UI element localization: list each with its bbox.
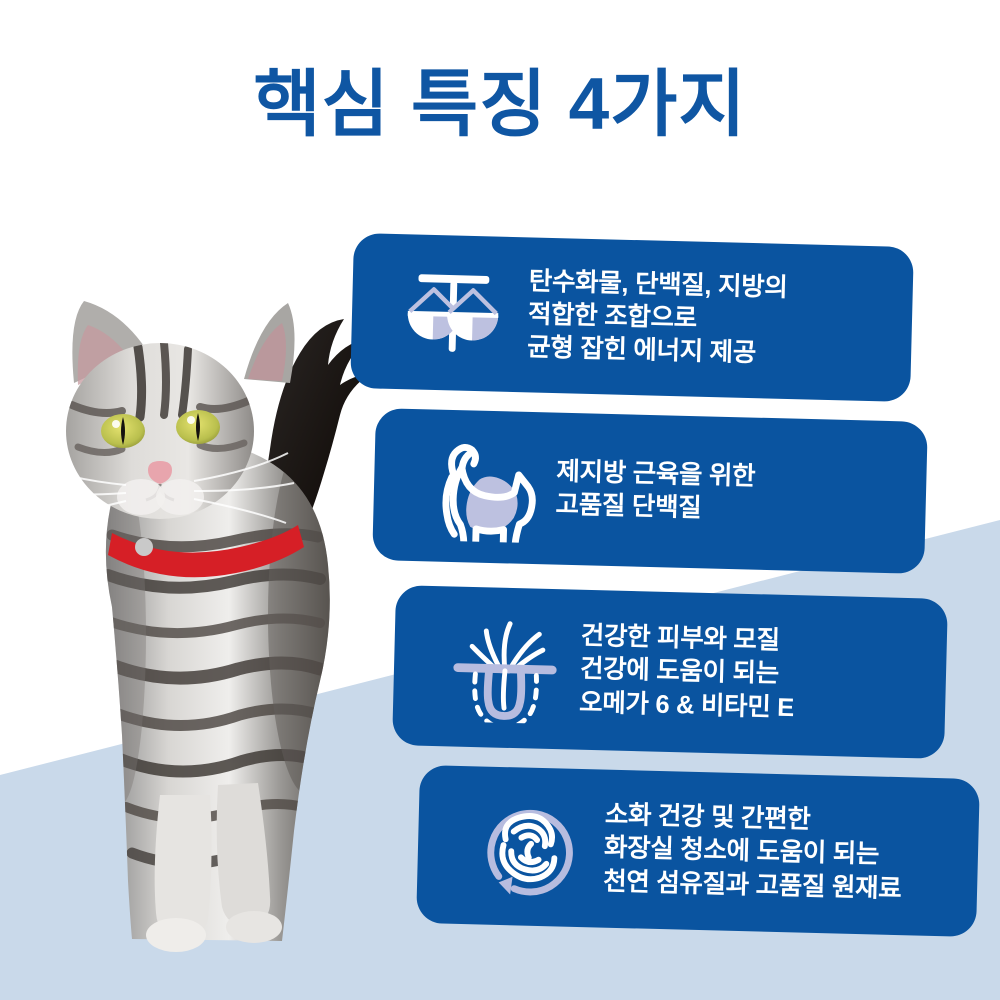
digestion-cycle-icon [469,790,590,903]
feature-1-line-3: 균형 잡힌 에너지 제공 [527,331,787,371]
cat-paw-left [146,918,206,952]
feature-card-3[interactable]: 건강한 피부와 모질 건강에 도움이 되는 오메가 6 & 비타민 E [392,585,948,759]
feature-card-4[interactable]: 소화 건강 및 간편한 화장실 청소에 도움이 되는 천연 섬유질과 고품질 원… [416,765,980,937]
balance-scale-icon [393,256,514,369]
feature-card-1-text: 탄수화물, 단백질, 지방의 적합한 조합으로 균형 잡힌 에너지 제공 [527,265,788,371]
feature-4-line-3: 천연 섬유질과 고품질 원재료 [603,865,902,906]
feature-card-1[interactable]: 탄수화물, 단백질, 지방의 적합한 조합으로 균형 잡힌 에너지 제공 [350,233,914,402]
feature-card-3-text: 건강한 피부와 모질 건강에 도움이 되는 오메가 6 & 비타민 E [579,620,796,725]
cat-front-leg-left [155,795,212,939]
page-title: 핵심 특징 4가지 [0,66,1000,145]
feature-card-2[interactable]: 제지방 근육을 위한 고품질 단백질 [372,408,928,574]
feature-3-line-3: 오메가 6 & 비타민 E [579,686,795,725]
hair-follicle-icon [445,611,566,724]
feature-3-line-2: 건강에 도움이 되는 [580,653,796,692]
feature-2-line-1: 제지방 근육을 위한 [556,455,756,493]
feature-card-2-text: 제지방 근육을 위한 고품질 단백질 [555,455,755,526]
feature-3-line-1: 건강한 피부와 모질 [580,620,796,659]
cat-silhouette-icon [421,430,542,543]
infographic-page: 핵심 특징 4가지 [0,0,1000,1000]
cat-paw-right [226,911,282,943]
feature-card-4-text: 소화 건강 및 간편한 화장실 청소에 도움이 되는 천연 섬유질과 고품질 원… [603,799,904,906]
collar-tag [135,538,153,556]
feature-2-line-2: 고품질 단백질 [555,489,755,527]
